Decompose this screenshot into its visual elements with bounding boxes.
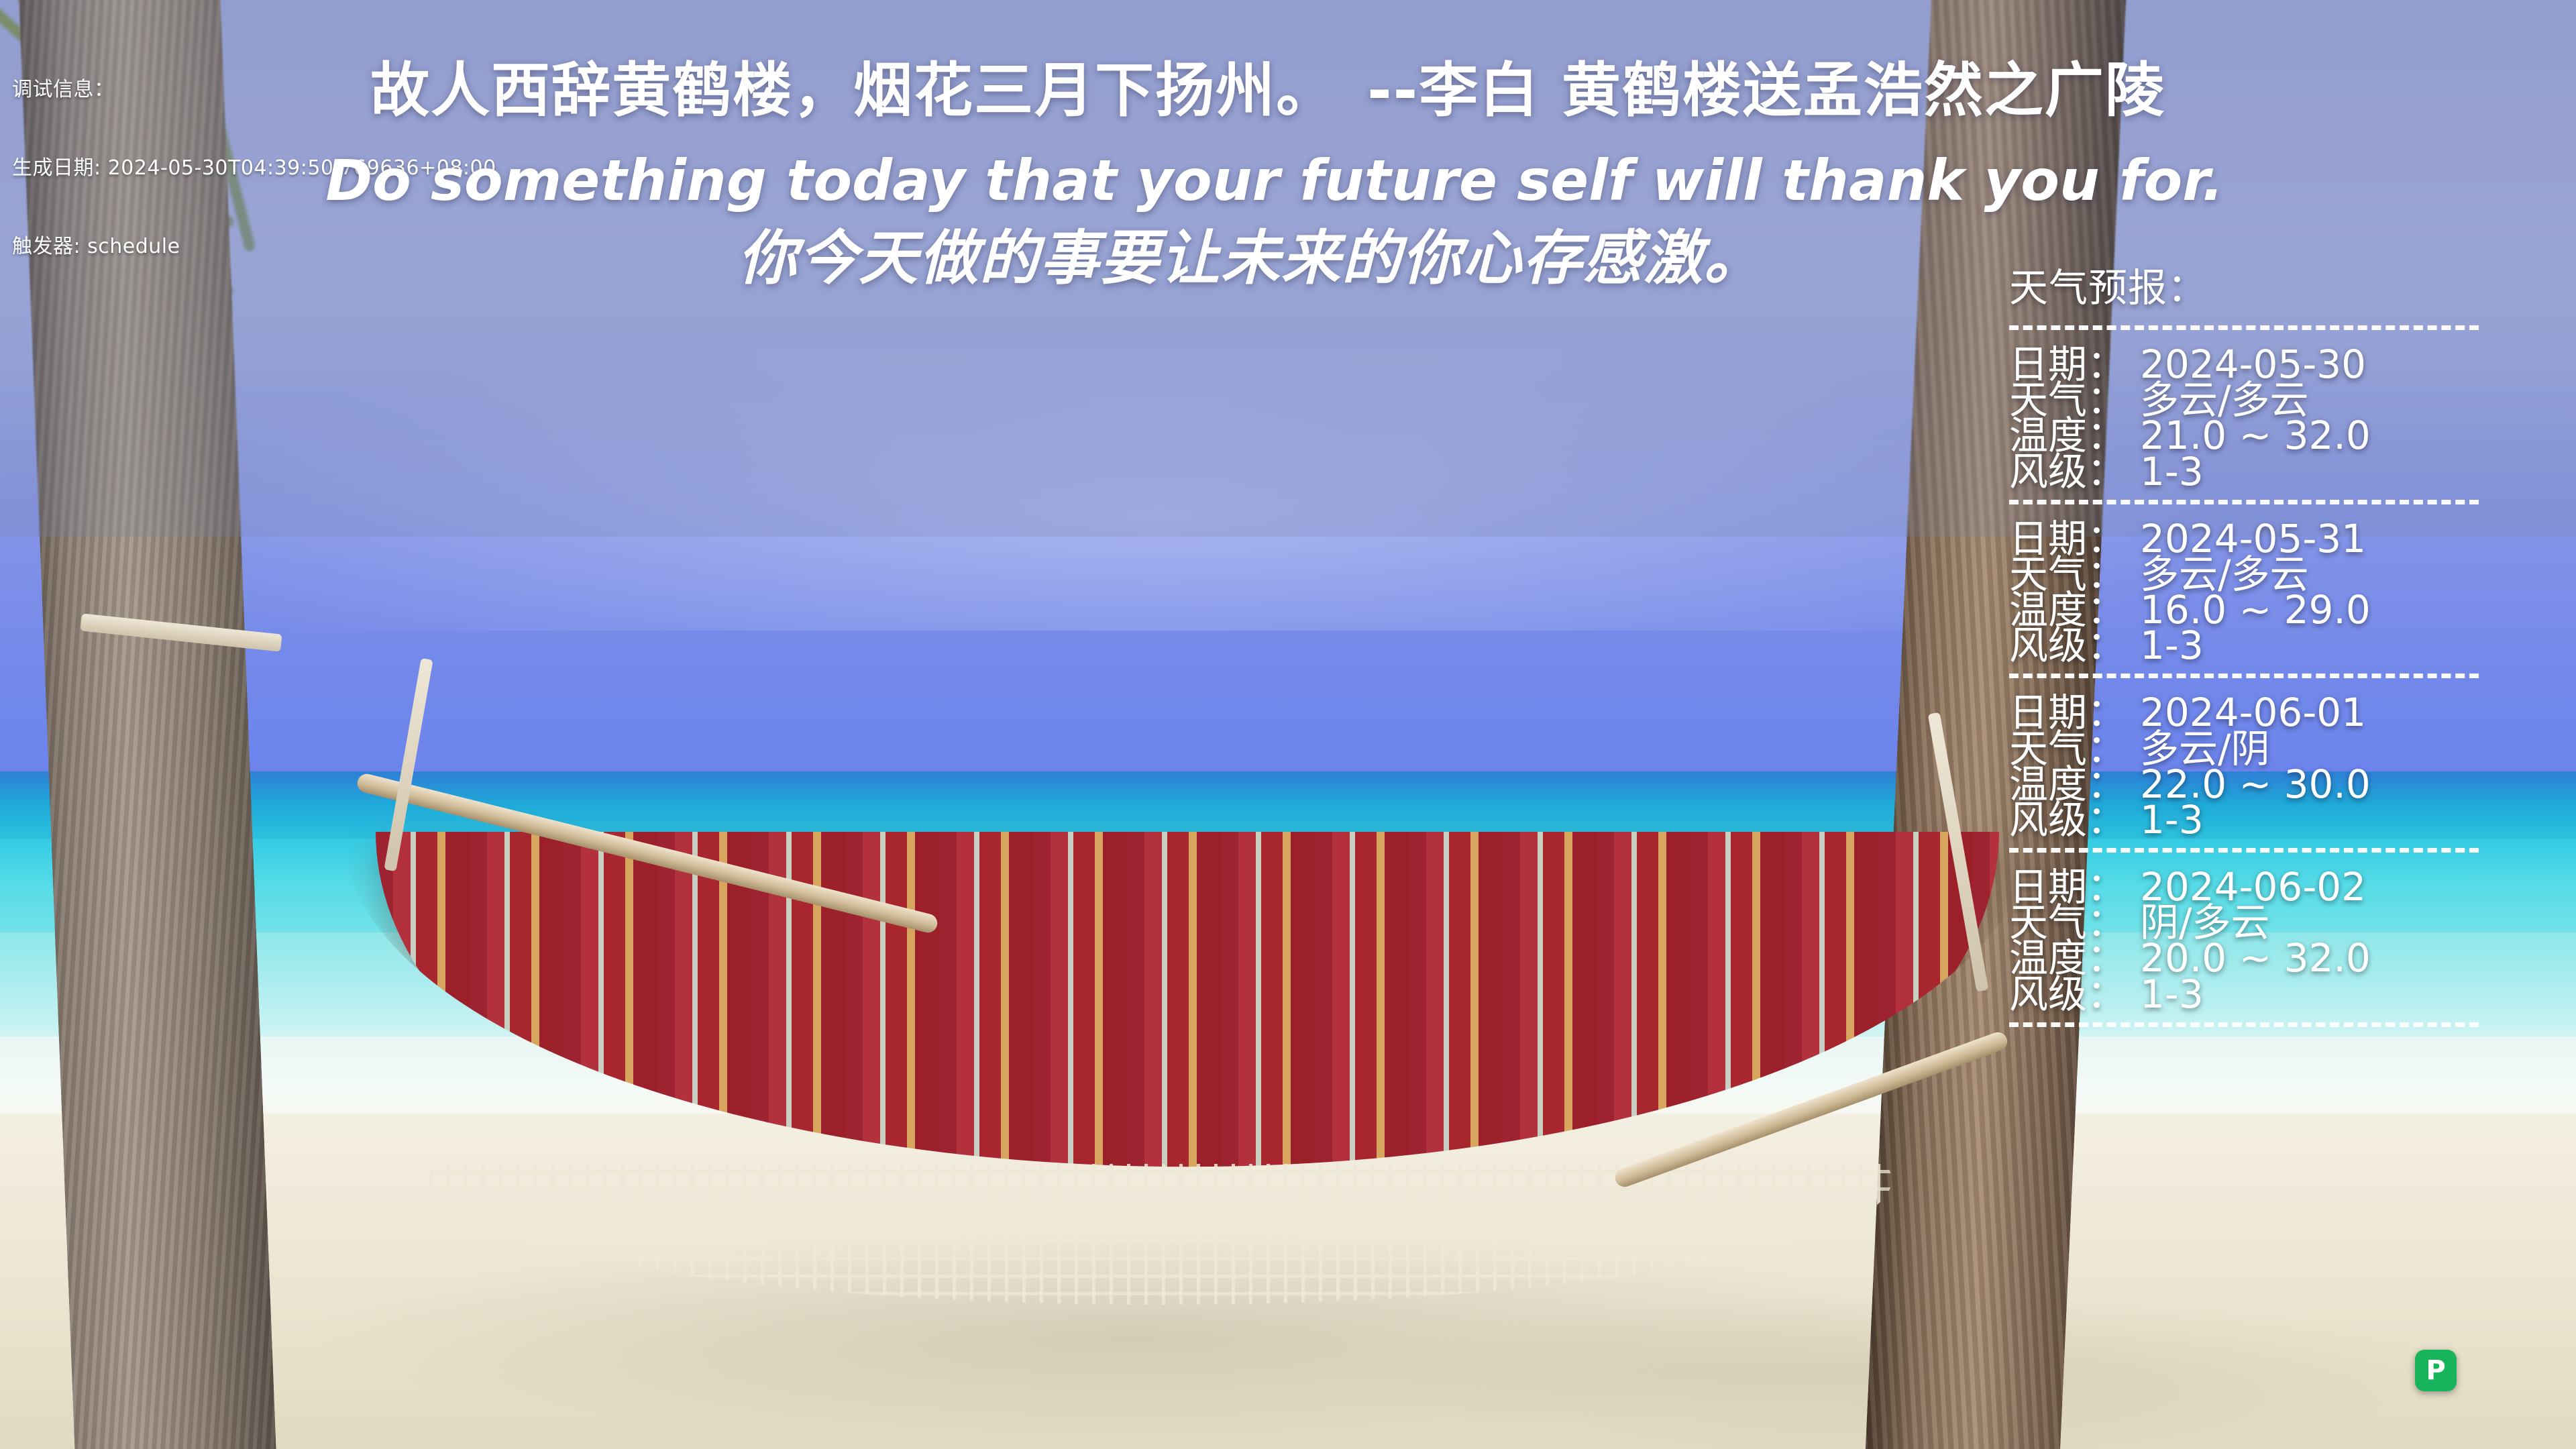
weather-row-wind: 风级：1-3 [2009, 452, 2559, 492]
weather-day-card: 日期：2024-05-30天气：多云/多云温度：21.0 ~ 32.0风级：1-… [2009, 345, 2559, 492]
weather-separator [2009, 848, 2479, 853]
weather-value-wind: 1-3 [2140, 626, 2559, 665]
weather-day-card: 日期：2024-06-01天气：多云/阴温度：22.0 ~ 30.0风级：1-3 [2009, 693, 2559, 840]
poem-line: 故人西辞黄鹤楼，烟花三月下扬州。 --李白 黄鹤楼送孟浩然之广陵 [0, 54, 2576, 127]
weather-label-wind: 风级： [2009, 452, 2140, 492]
weather-row-wind: 风级：1-3 [2009, 975, 2559, 1014]
weather-label-wind: 风级： [2009, 800, 2140, 840]
app-logo: P [2415, 1350, 2457, 1391]
weather-forecast-panel: 天气预报： 日期：2024-05-30天气：多云/多云温度：21.0 ~ 32.… [2009, 268, 2559, 1042]
weather-separator [2009, 1022, 2479, 1027]
weather-value-wind: 1-3 [2140, 452, 2559, 492]
weather-day-card: 日期：2024-05-31天气：多云/多云温度：16.0 ~ 29.0风级：1-… [2009, 519, 2559, 666]
quote-english: Do something today that your future self… [0, 146, 2576, 215]
weather-row-wind: 风级：1-3 [2009, 800, 2559, 840]
weather-separator [2009, 325, 2479, 330]
weather-label-wind: 风级： [2009, 626, 2140, 665]
weather-panel-title: 天气预报： [2009, 268, 2559, 308]
wallpaper-canvas: 调试信息： 生成日期: 2024-05-30T04:39:50.769636+0… [0, 0, 2576, 1449]
weather-separator [2009, 500, 2479, 504]
weather-separator [2009, 674, 2479, 678]
weather-day-card: 日期：2024-06-02天气：阴/多云温度：20.0 ~ 32.0风级：1-3 [2009, 867, 2559, 1014]
weather-day-list: 日期：2024-05-30天气：多云/多云温度：21.0 ~ 32.0风级：1-… [2009, 325, 2559, 1027]
weather-label-wind: 风级： [2009, 975, 2140, 1014]
weather-value-wind: 1-3 [2140, 800, 2559, 840]
weather-value-wind: 1-3 [2140, 975, 2559, 1014]
logo-glyph: P [2426, 1355, 2445, 1386]
quote-block: 故人西辞黄鹤楼，烟花三月下扬州。 --李白 黄鹤楼送孟浩然之广陵 Do some… [0, 54, 2576, 295]
weather-row-wind: 风级：1-3 [2009, 626, 2559, 665]
